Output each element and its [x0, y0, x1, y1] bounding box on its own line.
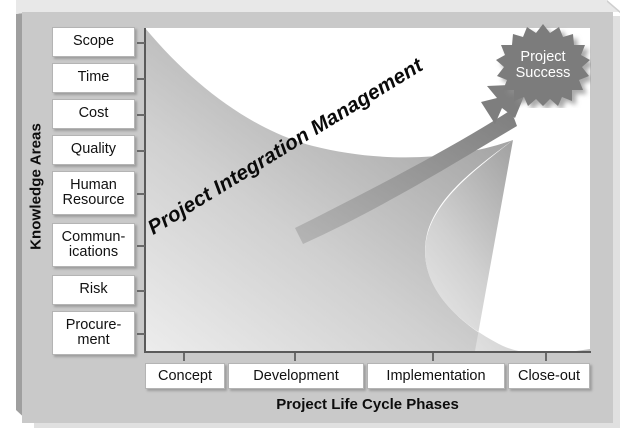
knowledge-area-label: HumanResource: [62, 178, 124, 209]
x-axis-tick: [294, 353, 296, 361]
knowledge-area-box[interactable]: Scope: [52, 27, 135, 57]
knowledge-area-label: Scope: [73, 34, 114, 49]
knowledge-area-label: Risk: [79, 282, 107, 297]
y-axis-tick: [137, 114, 145, 116]
y-axis-tick: [137, 42, 145, 44]
knowledge-area-box[interactable]: Procure-ment: [52, 311, 135, 355]
knowledge-area-label: Time: [78, 70, 110, 85]
diagram-canvas: ScopeTimeCostQualityHumanResourceCommun-…: [0, 0, 620, 435]
y-axis-tick: [137, 290, 145, 292]
phase-box[interactable]: Implementation: [367, 363, 505, 389]
knowledge-area-box[interactable]: Cost: [52, 99, 135, 129]
knowledge-area-label: Cost: [79, 106, 109, 121]
project-success-burst: Project Success: [495, 22, 591, 108]
starburst-icon: [495, 22, 591, 108]
knowledge-area-box[interactable]: Time: [52, 63, 135, 93]
x-axis-title: Project Life Cycle Phases: [145, 396, 590, 413]
phase-box[interactable]: Close-out: [508, 363, 590, 389]
knowledge-area-box[interactable]: HumanResource: [52, 171, 135, 215]
knowledge-area-label: Procure-ment: [66, 318, 122, 349]
y-axis-tick: [137, 193, 145, 195]
y-axis-tick: [137, 333, 145, 335]
y-axis-tick: [137, 245, 145, 247]
knowledge-area-label: Commun-ications: [62, 230, 126, 261]
x-axis-tick: [432, 353, 434, 361]
phase-label: Close-out: [518, 368, 580, 384]
x-axis-line: [144, 351, 591, 353]
x-axis-tick: [183, 353, 185, 361]
knowledge-area-box[interactable]: Commun-ications: [52, 223, 135, 267]
x-axis-tick: [545, 353, 547, 361]
phase-label: Concept: [158, 368, 212, 384]
knowledge-area-box[interactable]: Quality: [52, 135, 135, 165]
phase-label: Development: [253, 368, 338, 384]
phase-box[interactable]: Concept: [145, 363, 225, 389]
y-axis-title: Knowledge Areas: [28, 107, 45, 267]
y-axis-tick: [137, 150, 145, 152]
phase-label: Implementation: [386, 368, 485, 384]
knowledge-area-label: Quality: [71, 142, 116, 157]
phase-box[interactable]: Development: [228, 363, 364, 389]
knowledge-area-box[interactable]: Risk: [52, 275, 135, 305]
y-axis-tick: [137, 78, 145, 80]
y-axis-line: [144, 28, 146, 353]
